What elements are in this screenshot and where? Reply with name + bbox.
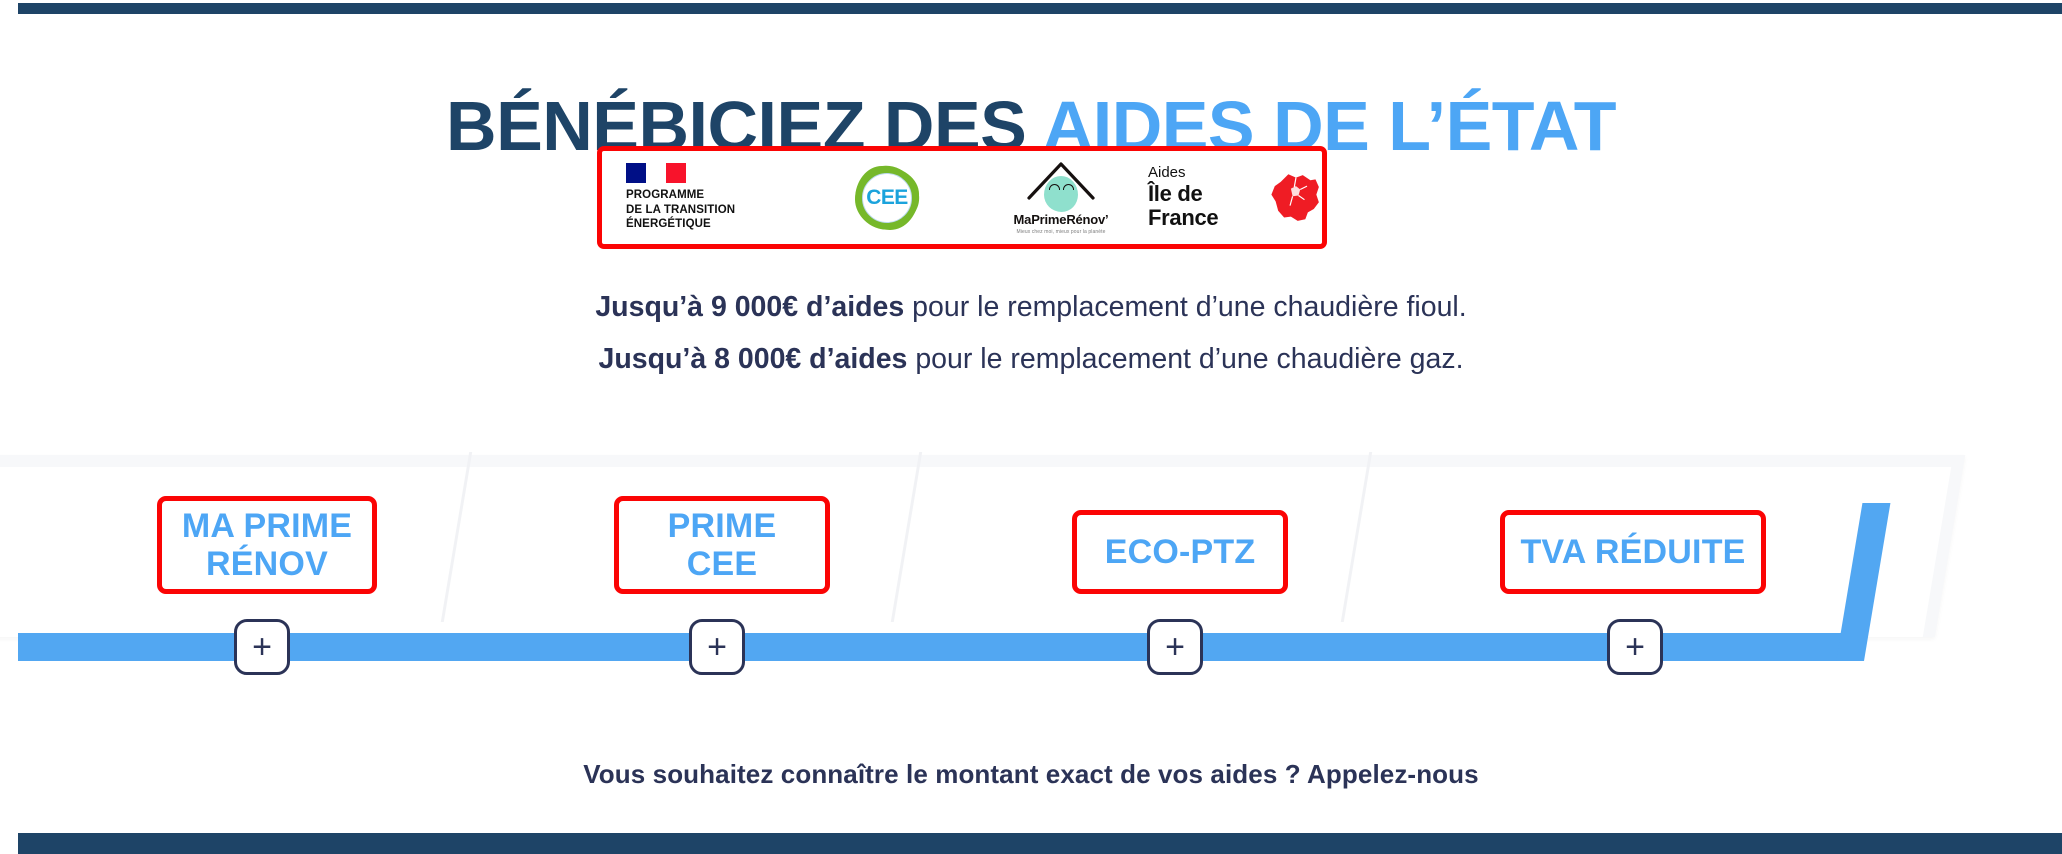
cee-badge-inner: CEE <box>862 173 912 223</box>
idf-line-aides: Aides <box>1148 165 1259 182</box>
maprimerenov-tagline: Mieux chez moi, mieux pour la planète <box>1016 229 1105 235</box>
aid-line-gaz-rest: pour le remplacement d’une chaudière gaz… <box>907 343 1463 375</box>
aid-card-eco-ptz-label: ECO-PTZ <box>1105 533 1256 571</box>
aid-card-prime-cee[interactable]: PRIME CEE <box>614 496 830 594</box>
partner-logo-strip: PROGRAMME DE LA TRANSITION ÉNERGÉTIQUE C… <box>597 146 1327 249</box>
plus-icon: + <box>707 630 727 664</box>
expand-toggle-prime-cee[interactable]: + <box>689 619 745 675</box>
pte-line-3: ÉNERGÉTIQUE <box>626 217 735 232</box>
bottom-accent-bar <box>18 833 2062 854</box>
aid-schemes-panel: MA PRIME RÉNOV PRIME CEE ECO-PTZ TVA RÉD… <box>0 440 2062 660</box>
logo-maprimerenov: MaPrimeRénov’ Mieux chez moi, mieux pour… <box>974 151 1148 244</box>
aid-line-fioul: Jusqu’à 9 000€ d’aides pour le remplacem… <box>0 281 2062 333</box>
expand-toggle-eco-ptz[interactable]: + <box>1147 619 1203 675</box>
pte-line-1: PROGRAMME <box>626 188 735 203</box>
top-accent-bar <box>18 3 2062 14</box>
logo-cee: CEE <box>800 151 974 244</box>
ile-de-france-map-icon <box>1268 167 1322 229</box>
aid-amount-lines: Jusqu’à 9 000€ d’aides pour le remplacem… <box>0 281 2062 385</box>
logo-programme-transition-energetique: PROGRAMME DE LA TRANSITION ÉNERGÉTIQUE <box>602 151 800 244</box>
plus-icon: + <box>252 630 272 664</box>
logo-aides-ile-de-france: Aides Île de France <box>1148 151 1322 244</box>
aid-card-ma-prime-renov[interactable]: MA PRIME RÉNOV <box>157 496 377 594</box>
plus-icon: + <box>1625 630 1645 664</box>
expand-toggle-ma-prime-renov[interactable]: + <box>234 619 290 675</box>
maprimerenov-name: MaPrimeRénov’ <box>1014 212 1109 227</box>
expand-toggle-tva-reduite[interactable]: + <box>1607 619 1663 675</box>
aid-line-gaz-amount: Jusqu’à 8 000€ d’aides <box>598 343 907 375</box>
aid-line-fioul-amount: Jusqu’à 9 000€ d’aides <box>595 291 904 323</box>
maprimerenov-house-icon <box>1025 160 1097 210</box>
aid-card-tva-reduite[interactable]: TVA RÉDUITE <box>1500 510 1766 594</box>
aid-card-eco-ptz[interactable]: ECO-PTZ <box>1072 510 1288 594</box>
plus-icon: + <box>1165 630 1185 664</box>
cee-label: CEE <box>866 186 907 210</box>
french-flag-icon <box>626 163 686 183</box>
aid-card-prime-cee-label: PRIME CEE <box>668 507 777 583</box>
aid-line-gaz: Jusqu’à 8 000€ d’aides pour le remplacem… <box>0 333 2062 385</box>
pte-line-2: DE LA TRANSITION <box>626 203 735 218</box>
aid-line-fioul-rest: pour le remplacement d’une chaudière fio… <box>904 291 1466 323</box>
aid-card-ma-prime-renov-label: MA PRIME RÉNOV <box>182 507 352 583</box>
panel-blue-bar <box>18 633 1856 661</box>
call-to-action-text: Vous souhaitez connaître le montant exac… <box>0 759 2062 790</box>
idf-line-region: Île de France <box>1148 182 1259 230</box>
aid-card-tva-reduite-label: TVA RÉDUITE <box>1520 533 1745 571</box>
